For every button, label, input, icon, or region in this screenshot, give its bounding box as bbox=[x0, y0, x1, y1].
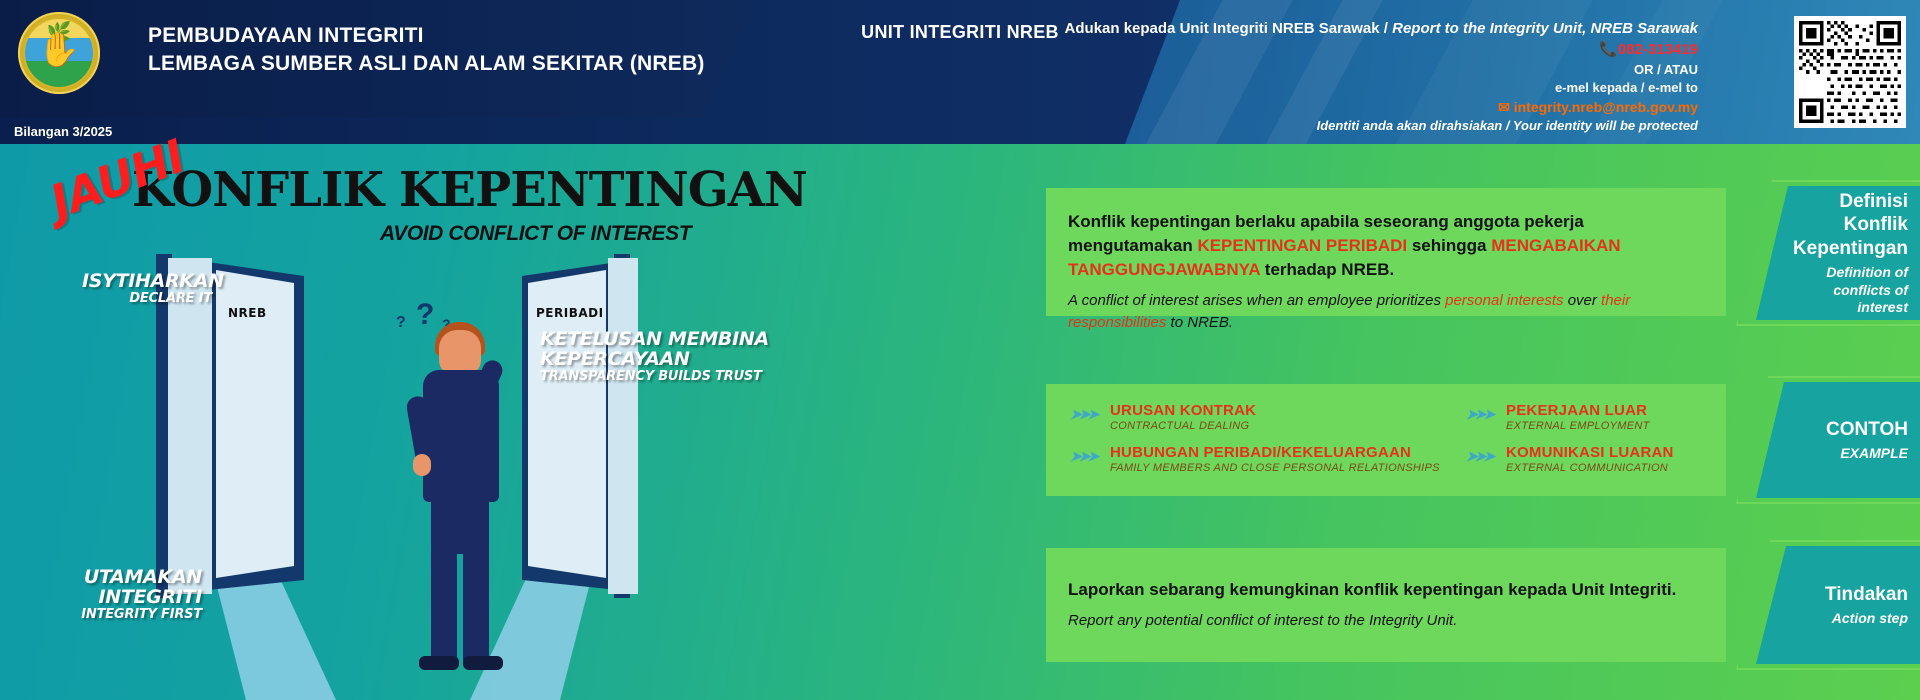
person-figure bbox=[405, 304, 515, 684]
definition-ms-part-4: terhadap NREB. bbox=[1260, 260, 1394, 279]
qr-code-image bbox=[1799, 21, 1901, 123]
label-utamakan-ms: UTAMAKAN INTEGRITI bbox=[22, 568, 202, 608]
definition-tab-ms-line-0: Definisi bbox=[1793, 190, 1908, 214]
label-ketelusan-line1: KETELUSAN MEMBINA bbox=[540, 330, 770, 350]
definition-en-part-2: over bbox=[1564, 292, 1602, 309]
example-item-2[interactable]: ➤➤➤ PEKERJAAN LUAR EXTERNAL EMPLOYMENT bbox=[1466, 402, 1726, 432]
person-shoe-right bbox=[463, 656, 503, 670]
example-item-1[interactable]: ➤➤➤ HUBUNGAN PERIBADI/KEKELUARGAAN FAMIL… bbox=[1070, 444, 1470, 474]
example-item-3-en: EXTERNAL COMMUNICATION bbox=[1506, 462, 1726, 474]
example-item-0[interactable]: ➤➤➤ URUSAN KONTRAK CONTRACTUAL DEALING bbox=[1070, 402, 1400, 432]
label-isytiharkan-ms: ISYTIHARKAN bbox=[82, 272, 212, 292]
definition-tab-en: Definition of conflicts of interest bbox=[1826, 264, 1908, 316]
or-text: OR / ATAU bbox=[918, 61, 1698, 79]
definition-tab-ms-line-1: Konflik bbox=[1793, 213, 1908, 237]
definition-en-part-1: personal interests bbox=[1445, 292, 1563, 309]
infographic-poster: 🌿 ✋ PEMBUDAYAAN INTEGRITI LEMBAGA SUMBER… bbox=[0, 0, 1920, 700]
example-item-2-ms: PEKERJAAN LUAR bbox=[1506, 402, 1726, 419]
qr-code[interactable] bbox=[1794, 16, 1906, 128]
page-title: KONFLIK KEPENTINGAN bbox=[132, 162, 807, 218]
action-panel: Laporkan sebarang kemungkinan konflik ke… bbox=[1046, 548, 1726, 662]
example-tab-ms: CONTOH bbox=[1826, 418, 1908, 442]
triple-chevron-icon: ➤➤➤ bbox=[1070, 406, 1096, 423]
example-item-0-en: CONTRACTUAL DEALING bbox=[1110, 420, 1400, 432]
definition-panel: Konflik kepentingan berlaku apabila sese… bbox=[1046, 188, 1726, 316]
door-label-peribadi: PERIBADI bbox=[536, 306, 604, 320]
report-separator: / bbox=[1384, 20, 1388, 37]
definition-en-part-4: to NREB. bbox=[1166, 314, 1233, 331]
definition-tab-en-line-1: conflicts of bbox=[1826, 282, 1908, 299]
phone-line[interactable]: 📞082-313419 bbox=[918, 39, 1698, 60]
email-line[interactable]: ✉ integrity.nreb@nreb.gov.my bbox=[918, 98, 1698, 118]
phone-number: 082-313419 bbox=[1618, 41, 1698, 58]
triple-chevron-icon: ➤➤➤ bbox=[1466, 406, 1492, 423]
label-isytiharkan-en: DECLARE IT bbox=[82, 292, 212, 306]
privacy-note: Identiti anda akan dirahsiakan / Your id… bbox=[918, 117, 1698, 135]
person-hand-hip bbox=[413, 454, 431, 476]
page-header: 🌿 ✋ PEMBUDAYAAN INTEGRITI LEMBAGA SUMBER… bbox=[0, 0, 1920, 144]
definition-ms-part-1: KEPENTINGAN PERIBADI bbox=[1197, 236, 1407, 255]
example-item-3-ms: KOMUNIKASI LUARAN bbox=[1506, 444, 1726, 461]
door-open-right bbox=[608, 258, 638, 594]
phone-icon: 📞 bbox=[1599, 41, 1618, 58]
report-line: Adukan kepada Unit Integriti NREB Sarawa… bbox=[918, 18, 1698, 39]
definition-tab-en-line-2: interest bbox=[1826, 299, 1908, 316]
triple-chevron-icon: ➤➤➤ bbox=[1070, 448, 1096, 465]
org-title-line1: PEMBUDAYAAN INTEGRITI bbox=[148, 22, 705, 50]
definition-tab-ms: Definisi Konflik Kepentingan bbox=[1793, 190, 1908, 261]
org-title-line2: LEMBAGA SUMBER ASLI DAN ALAM SEKITAR (NR… bbox=[148, 50, 705, 78]
triple-chevron-icon: ➤➤➤ bbox=[1466, 448, 1492, 465]
label-utamakan-integriti: UTAMAKAN INTEGRITI INTEGRITY FIRST bbox=[22, 568, 202, 622]
example-tab-en: EXAMPLE bbox=[1840, 445, 1908, 462]
hero-illustration: JAUHI KONFLIK KEPENTINGAN AVOID CONFLICT… bbox=[0, 144, 860, 700]
door-open-left bbox=[168, 258, 212, 594]
poster-body: JAUHI KONFLIK KEPENTINGAN AVOID CONFLICT… bbox=[0, 144, 1920, 700]
action-text-en: Report any potential conflict of interes… bbox=[1068, 610, 1700, 631]
envelope-icon: ✉ bbox=[1498, 99, 1510, 115]
example-item-0-ms: URUSAN KONTRAK bbox=[1110, 402, 1400, 419]
email-label: e-mel kepada / e-mel to bbox=[918, 79, 1698, 97]
report-ms: Adukan kepada Unit Integriti NREB Sarawa… bbox=[1065, 20, 1380, 37]
example-item-2-en: EXTERNAL EMPLOYMENT bbox=[1506, 420, 1726, 432]
contact-block: Adukan kepada Unit Integriti NREB Sarawa… bbox=[918, 18, 1698, 136]
label-ketelusan-en: TRANSPARENCY BUILDS TRUST bbox=[540, 370, 770, 384]
page-subtitle: AVOID CONFLICT OF INTEREST bbox=[380, 222, 691, 246]
label-isytiharkan: ISYTIHARKAN DECLARE IT bbox=[82, 272, 212, 306]
action-tab-ms: Tindakan bbox=[1825, 583, 1908, 607]
report-en: Report to the Integrity Unit, NREB Saraw… bbox=[1392, 20, 1698, 37]
person-leg-gap bbox=[457, 554, 463, 662]
example-panel: ➤➤➤ URUSAN KONTRAK CONTRACTUAL DEALING ➤… bbox=[1046, 384, 1726, 496]
issue-number: Bilangan 3/2025 bbox=[14, 124, 112, 139]
definition-tab-ms-line-2: Kepentingan bbox=[1793, 237, 1908, 261]
definition-text-en: A conflict of interest arises when an em… bbox=[1068, 290, 1700, 333]
email-address: integrity.nreb@nreb.gov.my bbox=[1514, 99, 1698, 115]
action-text-ms: Laporkan sebarang kemungkinan konflik ke… bbox=[1068, 578, 1700, 602]
doors-scene: NREB PERIBADI ? ? ? bbox=[150, 244, 710, 700]
logo-hand-icon: ✋ bbox=[38, 33, 80, 67]
door-label-nreb: NREB bbox=[228, 306, 267, 320]
definition-ms-part-2: sehingga bbox=[1407, 236, 1491, 255]
organisation-title: PEMBUDAYAAN INTEGRITI LEMBAGA SUMBER ASL… bbox=[148, 22, 705, 77]
label-ketelusan: KETELUSAN MEMBINA KEPERCAYAAN TRANSPAREN… bbox=[540, 330, 770, 384]
definition-en-part-0: A conflict of interest arises when an em… bbox=[1068, 292, 1445, 309]
example-item-1-ms: HUBUNGAN PERIBADI/KEKELUARGAAN bbox=[1110, 444, 1470, 461]
definition-tab-en-line-0: Definition of bbox=[1826, 264, 1908, 281]
nreb-logo: 🌿 ✋ bbox=[18, 12, 100, 94]
label-utamakan-en: INTEGRITY FIRST bbox=[22, 608, 202, 622]
action-tab-en: Action step bbox=[1832, 610, 1908, 627]
example-item-1-en: FAMILY MEMBERS AND CLOSE PERSONAL RELATI… bbox=[1110, 462, 1470, 474]
person-shoe-left bbox=[419, 656, 459, 670]
definition-text-ms: Konflik kepentingan berlaku apabila sese… bbox=[1068, 210, 1700, 282]
example-tab[interactable]: CONTOH EXAMPLE bbox=[1756, 382, 1920, 498]
example-item-3[interactable]: ➤➤➤ KOMUNIKASI LUARAN EXTERNAL COMMUNICA… bbox=[1466, 444, 1726, 474]
label-ketelusan-line2: KEPERCAYAAN bbox=[540, 350, 770, 370]
